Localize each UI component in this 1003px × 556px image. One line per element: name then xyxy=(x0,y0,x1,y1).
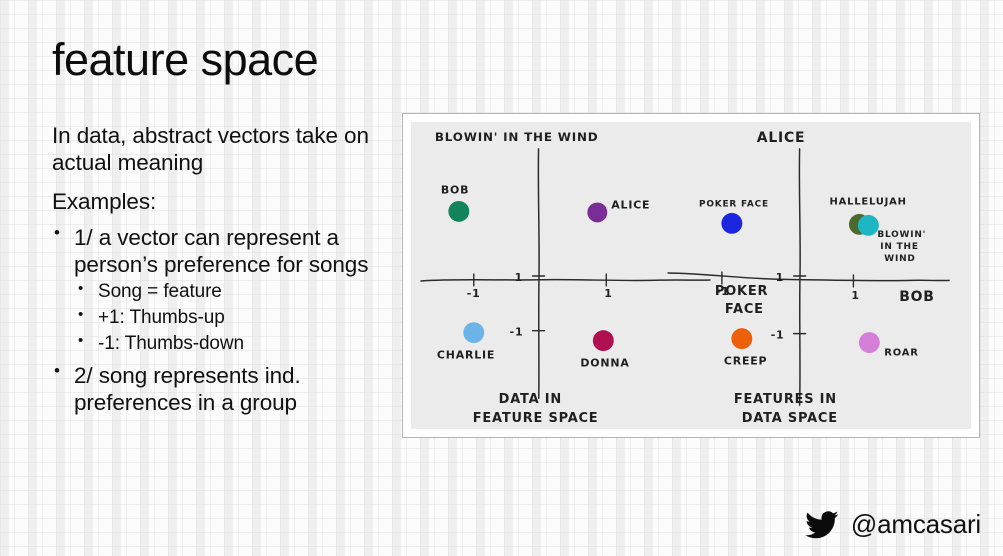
sub-bullet-text: Song = feature xyxy=(98,281,222,302)
twitter-handle: @amcasari xyxy=(851,509,981,540)
x-axis-label-line2: FACE xyxy=(725,302,764,317)
x-tick-label-neg: -1 xyxy=(467,287,481,300)
y-axis-line xyxy=(538,149,539,398)
examples-label: Examples: xyxy=(52,188,382,215)
data-point-bob xyxy=(448,201,469,222)
y-axis-label: BLOWIN' IN THE WIND xyxy=(435,130,599,144)
data-point-creep xyxy=(731,328,752,349)
chart-data-in-feature-space: 1 -1 -1 1 BLOWIN' IN THE WIND POKER FACE… xyxy=(421,130,768,426)
chart-caption-line2: FEATURE SPACE xyxy=(473,411,599,426)
data-label-blowin-line1: BLOWIN' xyxy=(877,230,926,240)
x-tick-label-pos: 1 xyxy=(604,287,612,300)
chart-caption-line2: DATA SPACE xyxy=(742,411,838,426)
chart-features-in-data-space: 1 -1 -1 1 ALICE BOB POKER FACE HALLELUJA… xyxy=(668,130,949,426)
list-item: 2/ song represents ind. preferences in a… xyxy=(52,362,382,416)
bullet-list: 1/ a vector can represent a person’s pre… xyxy=(52,224,382,416)
figure-frame: .ink { stroke:#2b2b2b; fill:none; stroke… xyxy=(402,113,980,438)
data-label-blowin-line3: WIND xyxy=(884,254,915,264)
y-tick-label-neg: -1 xyxy=(771,329,785,342)
sub-bullet-list: Song = feature +1: Thumbs-up -1: Thumbs-… xyxy=(74,280,382,356)
intro-paragraph: In data, abstract vectors take on actual… xyxy=(52,122,382,177)
data-label-blowin-line2: IN THE xyxy=(880,242,918,252)
sub-bullet-text: +1: Thumbs-up xyxy=(98,307,225,328)
list-item: -1: Thumbs-down xyxy=(74,332,382,357)
credit-block: @amcasari xyxy=(805,509,981,540)
list-item: Song = feature xyxy=(74,280,382,305)
data-label-alice: ALICE xyxy=(611,198,650,211)
y-tick-label-pos: 1 xyxy=(515,271,523,284)
x-axis-line xyxy=(421,280,710,281)
data-point-blowin-in-the-wind xyxy=(858,215,879,236)
slide-canvas: feature space In data, abstract vectors … xyxy=(0,0,1003,556)
data-label-charlie: CHARLIE xyxy=(437,348,495,361)
list-item: +1: Thumbs-up xyxy=(74,306,382,331)
y-tick-label-pos: 1 xyxy=(776,271,784,284)
chart-caption-line1: DATA IN xyxy=(499,392,562,407)
data-point-donna xyxy=(593,330,614,351)
chart-caption-line1: FEATURES IN xyxy=(734,392,837,407)
data-point-charlie xyxy=(463,322,484,343)
list-item: 1/ a vector can represent a person’s pre… xyxy=(52,224,382,356)
data-point-roar xyxy=(859,332,880,353)
data-label-roar: ROAR xyxy=(884,347,918,358)
sub-bullet-text: -1: Thumbs-down xyxy=(98,333,244,354)
body-content: In data, abstract vectors take on actual… xyxy=(52,122,382,422)
sketch-image: .ink { stroke:#2b2b2b; fill:none; stroke… xyxy=(411,122,971,429)
y-tick-label-neg: -1 xyxy=(510,326,524,339)
bullet-text: 1/ a vector can represent a person’s pre… xyxy=(74,224,382,278)
y-axis-label: ALICE xyxy=(757,130,806,146)
y-axis-line xyxy=(799,149,800,405)
data-label-creep: CREEP xyxy=(724,354,767,367)
bullet-text: 2/ song represents ind. preferences in a… xyxy=(74,362,382,416)
x-axis-label-line1: BOB xyxy=(899,289,934,305)
x-tick-label-neg: -1 xyxy=(716,285,730,298)
data-label-donna: DONNA xyxy=(580,356,629,369)
data-label-bob: BOB xyxy=(441,184,469,197)
page-title: feature space xyxy=(52,36,318,83)
data-point-poker-face xyxy=(721,213,742,234)
x-tick-label-pos: 1 xyxy=(851,289,859,302)
data-label-poker-face: POKER FACE xyxy=(699,199,769,209)
twitter-bird-icon xyxy=(805,511,839,539)
data-label-hallelujah: HALLELUJAH xyxy=(830,196,907,207)
data-point-alice xyxy=(587,202,607,222)
